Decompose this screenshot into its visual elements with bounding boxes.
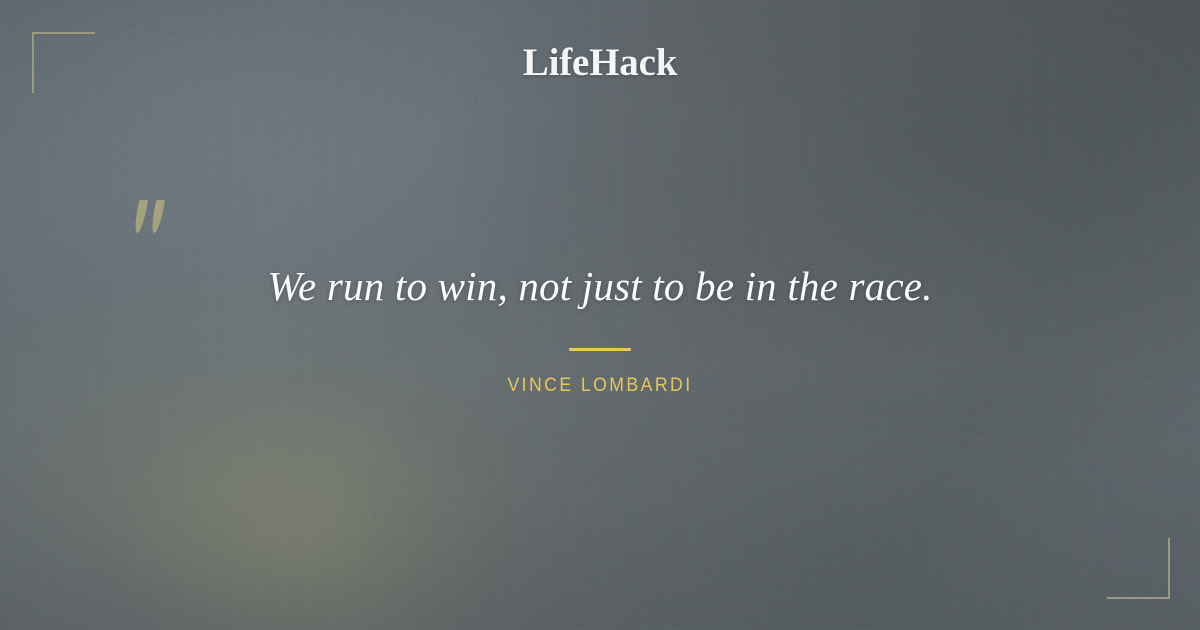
- quotation-mark-stroke-left: [133, 200, 148, 233]
- quote-content-block: We run to win, not just to be in the rac…: [0, 262, 1200, 397]
- quote-author: VINCE LOMBARDI: [42, 375, 1158, 397]
- quote-text: We run to win, not just to be in the rac…: [150, 262, 1050, 310]
- brand-logo: LifeHack: [0, 40, 1200, 85]
- gold-divider-rule: [569, 348, 631, 351]
- corner-bracket-bottom-right-icon: [1107, 538, 1170, 599]
- quotation-mark-icon: [134, 200, 174, 240]
- quotation-mark-stroke-right: [150, 200, 165, 233]
- quote-card-canvas: LifeHack We run to win, not just to be i…: [0, 0, 1200, 630]
